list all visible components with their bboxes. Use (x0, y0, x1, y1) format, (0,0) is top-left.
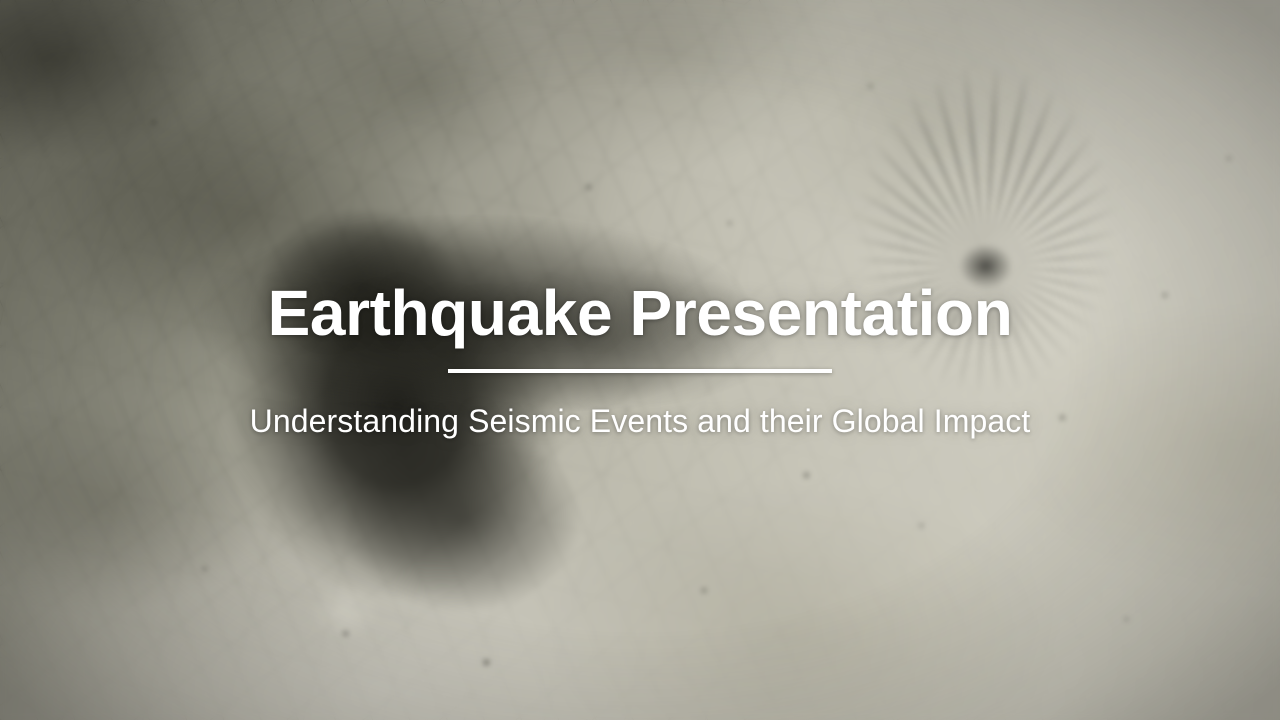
slide-content: Earthquake Presentation Understanding Se… (0, 0, 1280, 720)
presentation-slide: Earthquake Presentation Understanding Se… (0, 0, 1280, 720)
page-title: Earthquake Presentation (268, 281, 1013, 345)
title-divider (448, 369, 832, 373)
slide-subtitle: Understanding Seismic Events and their G… (250, 403, 1031, 440)
